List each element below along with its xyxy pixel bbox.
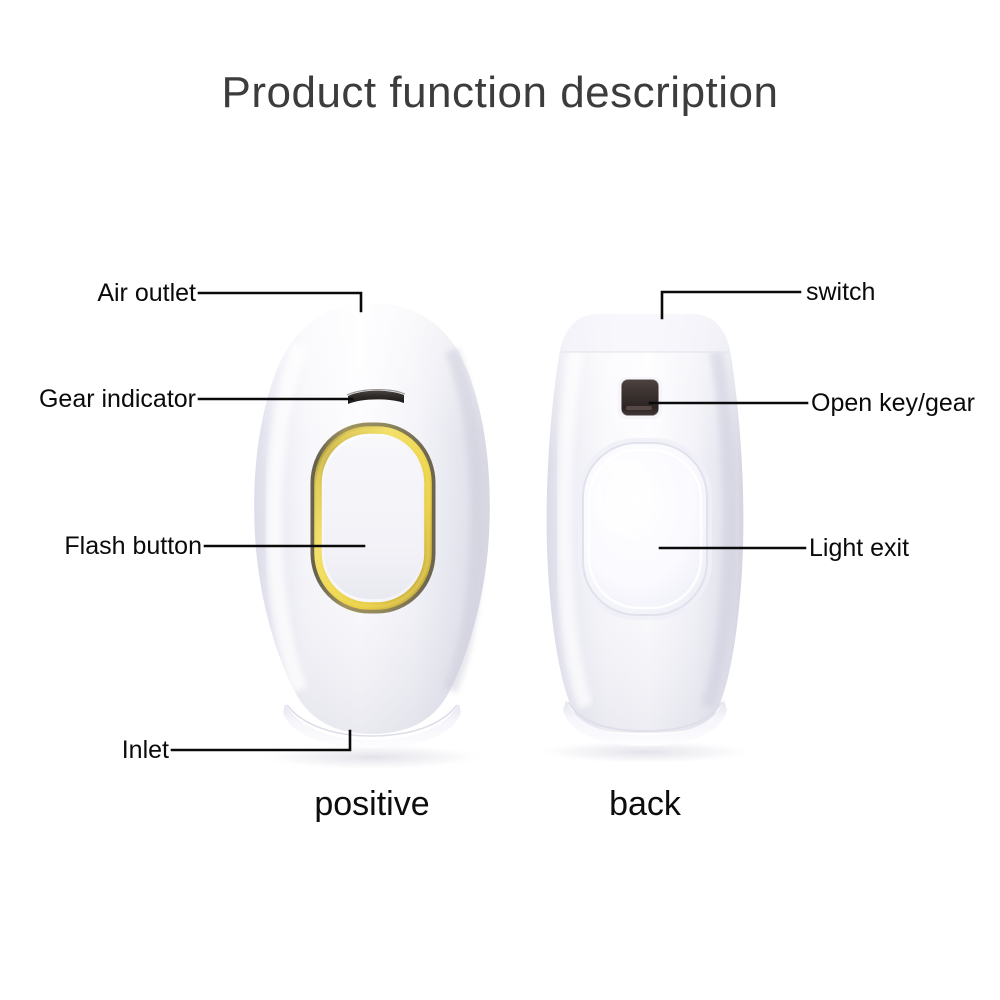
caption-front-view: positive — [252, 785, 492, 824]
annotation-leader-lines — [0, 0, 1000, 1000]
annotation-label-flash-button: Flash button — [0, 534, 202, 559]
annotation-label-open-key-gear: Open key/gear — [811, 391, 1000, 416]
annotation-label-switch: switch — [806, 280, 1000, 305]
annotation-label-air-outlet: Air outlet — [0, 281, 196, 306]
product-function-diagram: Product function description — [0, 0, 1000, 1000]
leader-inlet — [172, 731, 350, 750]
leader-air-outlet — [199, 293, 361, 311]
leader-switch — [662, 292, 800, 318]
annotation-label-inlet: Inlet — [0, 738, 169, 763]
annotation-label-gear-indicator: Gear indicator — [0, 387, 196, 412]
caption-back-view: back — [525, 785, 765, 824]
annotation-label-light-exit: Light exit — [809, 536, 1000, 561]
